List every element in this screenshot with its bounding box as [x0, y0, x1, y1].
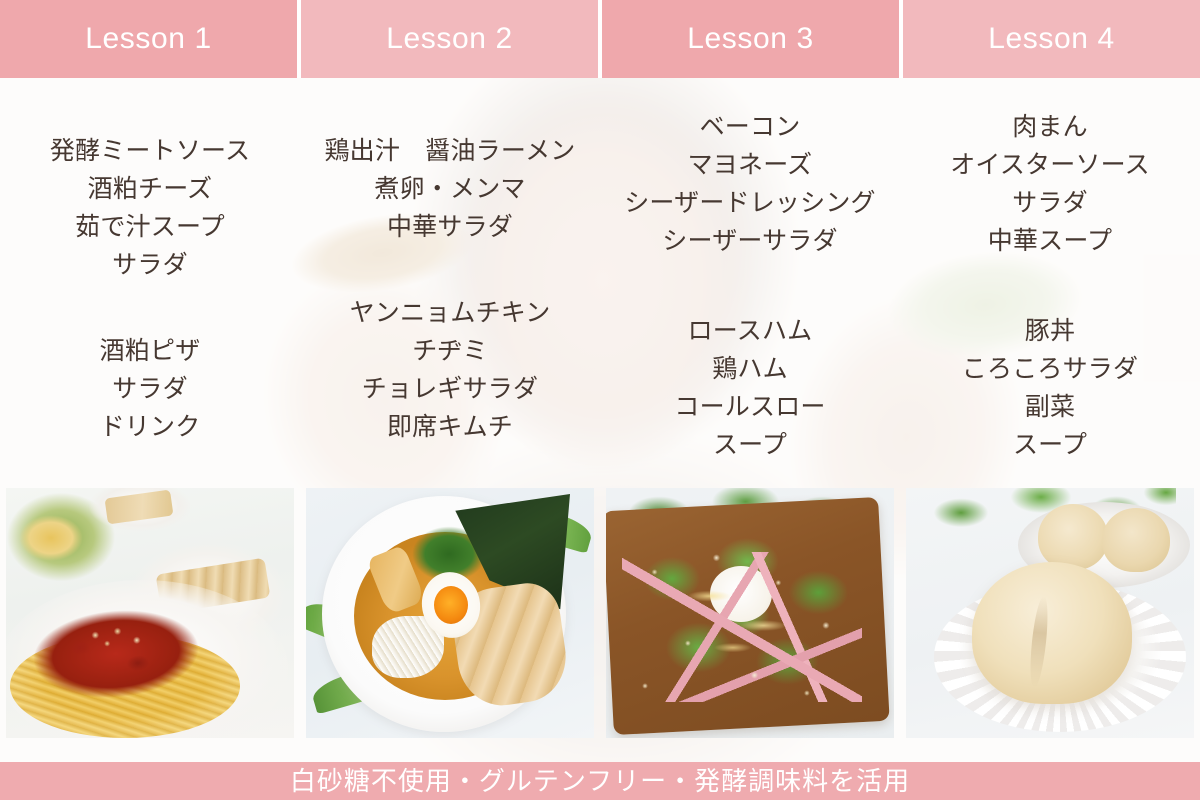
lesson-header-row: Lesson 1 Lesson 2 Lesson 3 Lesson 4: [0, 0, 1200, 78]
dish-photo-row: [0, 488, 1200, 738]
menu-item: チヂミ: [304, 332, 596, 370]
lesson-3-menu-block-b: ロースハム 鶏ハム コールスロー スープ: [600, 312, 900, 464]
lesson-column-3: ベーコン マヨネーズ シーザードレッシング シーザーサラダ ロースハム 鶏ハム …: [600, 78, 900, 482]
menu-item: 鶏出汁 醤油ラーメン: [304, 132, 596, 170]
menu-item: シーザーサラダ: [604, 222, 896, 260]
menu-item: ロースハム: [604, 312, 896, 350]
nikuman-photo-main-bun: [972, 562, 1132, 704]
menu-item: 煮卵・メンマ: [304, 170, 596, 208]
footer-banner-label: 白砂糖不使用・グルテンフリー・発酵調味料を活用: [290, 768, 910, 794]
lesson-column-2: 鶏出汁 醤油ラーメン 煮卵・メンマ 中華サラダ ヤンニョムチキン チヂミ チョレ…: [300, 78, 600, 482]
menu-item: コールスロー: [604, 388, 896, 426]
lesson-header-2: Lesson 2: [301, 0, 602, 78]
menu-item: サラダ: [4, 370, 296, 408]
lesson-column-4: 肉まん オイスターソース サラダ 中華スープ 豚丼 ころころサラダ 副菜 スープ: [900, 78, 1200, 482]
lesson-header-2-label: Lesson 2: [386, 24, 513, 54]
menu-item: 酒粕ピザ: [4, 332, 296, 370]
dish-photo-cell-1: [0, 488, 300, 738]
dish-photo-cell-2: [300, 488, 600, 738]
nikuman-steamed-bun-photo: [906, 488, 1194, 738]
lesson-2-menu-block-a: 鶏出汁 醤油ラーメン 煮卵・メンマ 中華サラダ: [300, 132, 600, 246]
menu-item: サラダ: [4, 246, 296, 284]
lesson-header-4: Lesson 4: [903, 0, 1200, 78]
nikuman-photo-back-bun-right: [1102, 508, 1170, 572]
menu-item: 鶏ハム: [604, 350, 896, 388]
menu-item: 発酵ミートソース: [4, 132, 296, 170]
dish-photo-cell-4: [900, 488, 1200, 738]
pasta-photo-garlic-topping: [82, 624, 156, 652]
fermented-meat-sauce-pasta-photo: [6, 488, 294, 738]
menu-item: オイスターソース: [904, 146, 1196, 184]
menu-item: 茹で汁スープ: [4, 208, 296, 246]
menu-item: マヨネーズ: [604, 146, 896, 184]
menu-item: 副菜: [904, 388, 1196, 426]
shoyu-ramen-photo: [306, 488, 594, 738]
lesson-2-menu-block-b: ヤンニョムチキン チヂミ チョレギサラダ 即席キムチ: [300, 294, 600, 446]
lesson-header-4-label: Lesson 4: [988, 24, 1115, 54]
lesson-1-menu-block-a: 発酵ミートソース 酒粕チーズ 茹で汁スープ サラダ: [0, 132, 300, 284]
menu-item: ころころサラダ: [904, 350, 1196, 388]
salad-photo-cheese-croutons: [626, 540, 864, 718]
menu-item: スープ: [904, 426, 1196, 464]
menu-item: ドリンク: [4, 408, 296, 446]
lesson-menu-row: 発酵ミートソース 酒粕チーズ 茹で汁スープ サラダ 酒粕ピザ サラダ ドリンク …: [0, 78, 1200, 482]
ramen-photo-egg-yolk: [434, 586, 468, 624]
lesson-header-1-label: Lesson 1: [85, 24, 212, 54]
lesson-4-menu-block-a: 肉まん オイスターソース サラダ 中華スープ: [900, 108, 1200, 260]
menu-item: 豚丼: [904, 312, 1196, 350]
lesson-1-menu-block-b: 酒粕ピザ サラダ ドリンク: [0, 332, 300, 446]
menu-item: 中華サラダ: [304, 208, 596, 246]
dish-photo-cell-3: [600, 488, 900, 738]
nikuman-photo-back-bun-left: [1038, 504, 1108, 570]
menu-item: 肉まん: [904, 108, 1196, 146]
pasta-photo-potato: [14, 510, 88, 566]
lesson-header-1: Lesson 1: [0, 0, 301, 78]
lesson-4-menu-block-b: 豚丼 ころころサラダ 副菜 スープ: [900, 312, 1200, 464]
menu-item: チョレギサラダ: [304, 370, 596, 408]
lesson-column-1: 発酵ミートソース 酒粕チーズ 茹で汁スープ サラダ 酒粕ピザ サラダ ドリンク: [0, 78, 300, 482]
caesar-salad-photo: [606, 488, 894, 738]
menu-item: ヤンニョムチキン: [304, 294, 596, 332]
lesson-menu-poster: Lesson 1 Lesson 2 Lesson 3 Lesson 4 発酵ミー…: [0, 0, 1200, 800]
menu-item: 中華スープ: [904, 222, 1196, 260]
menu-item: サラダ: [904, 184, 1196, 222]
footer-banner: 白砂糖不使用・グルテンフリー・発酵調味料を活用: [0, 762, 1200, 800]
menu-item: 酒粕チーズ: [4, 170, 296, 208]
menu-item: ベーコン: [604, 108, 896, 146]
menu-item: 即席キムチ: [304, 408, 596, 446]
lesson-3-menu-block-a: ベーコン マヨネーズ シーザードレッシング シーザーサラダ: [600, 108, 900, 260]
lesson-header-3: Lesson 3: [602, 0, 903, 78]
menu-item: スープ: [604, 426, 896, 464]
lesson-header-3-label: Lesson 3: [687, 24, 814, 54]
menu-item: シーザードレッシング: [604, 184, 896, 222]
